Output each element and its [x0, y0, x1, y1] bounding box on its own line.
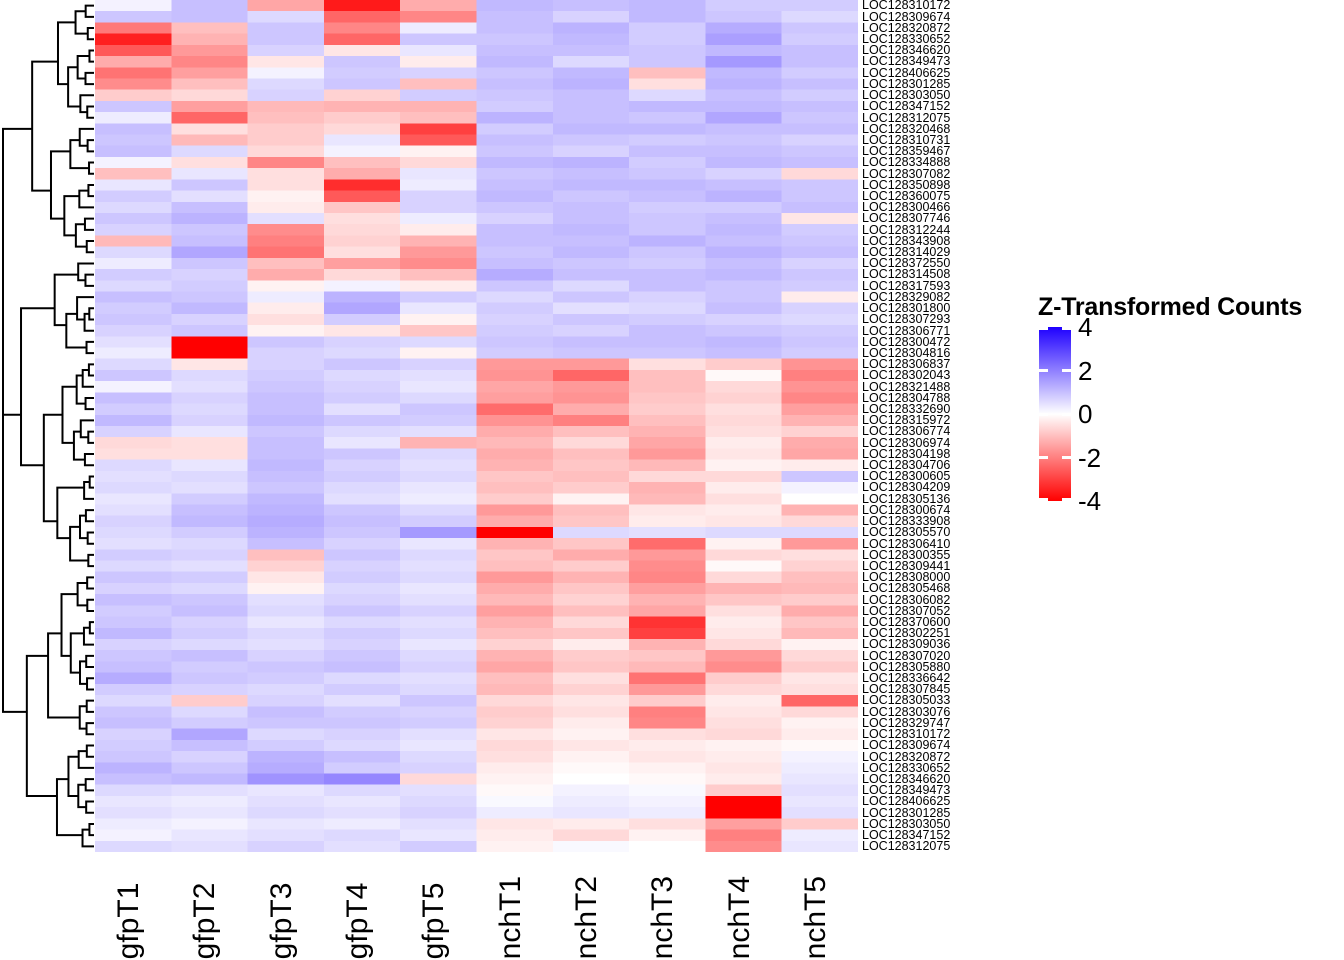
column-label-unchT4: unchT4	[705, 852, 781, 960]
row-label-axis: LOC128310172LOC128309674LOC128320872LOC1…	[862, 0, 1037, 860]
colorbar-tick	[1039, 456, 1048, 459]
column-label-text: ggfpT2	[190, 883, 220, 960]
row-dendrogram	[0, 0, 95, 852]
column-label-text: ggfpT5	[419, 883, 449, 960]
column-label-ggfpT4: ggfpT4	[324, 852, 400, 960]
column-label-unchT2: unchT2	[553, 852, 629, 960]
column-label-text: unchT1	[496, 876, 526, 960]
column-label-text: unchT5	[801, 876, 831, 960]
column-label-ggfpT5: ggfpT5	[400, 852, 476, 960]
colorbar-tick-label: -4	[1078, 488, 1101, 514]
row-label: LOC128312075	[862, 840, 950, 853]
colorbar-tick-label: -2	[1078, 445, 1101, 471]
heatmap-figure: LOC128310172LOC128309674LOC128320872LOC1…	[0, 0, 1344, 960]
colorbar-tick	[1062, 369, 1071, 372]
colorbar-tick	[1062, 413, 1071, 416]
column-label-text: unchT2	[572, 876, 602, 960]
colorbar-tick-label: 2	[1078, 358, 1092, 384]
heatmap-matrix[interactable]	[95, 0, 858, 852]
column-label-text: ggfpT4	[343, 883, 373, 960]
colorbar-tick	[1039, 413, 1048, 416]
column-label-text: unchT3	[648, 876, 678, 960]
colorbar-tick	[1039, 369, 1048, 372]
column-label-text: unchT4	[725, 876, 755, 960]
colorbar-tick	[1062, 327, 1071, 330]
column-label-unchT5: unchT5	[782, 852, 858, 960]
colorbar-tick	[1039, 327, 1048, 330]
heatmap-canvas[interactable]	[95, 0, 858, 852]
colorbar-tick	[1062, 456, 1071, 459]
colorbar-tick	[1039, 498, 1048, 501]
column-label-ggfpT2: ggfpT2	[171, 852, 247, 960]
column-label-text: ggfpT1	[114, 883, 144, 960]
column-label-unchT3: unchT3	[629, 852, 705, 960]
colorbar-tick-label: 0	[1078, 401, 1092, 427]
colorbar-tick-label: 4	[1078, 314, 1092, 340]
column-label-text: ggfpT3	[267, 883, 297, 960]
colorbar-tick	[1062, 498, 1071, 501]
column-label-axis: ggfpT1ggfpT2ggfpT3ggfpT4ggfpT5unchT1unch…	[95, 852, 858, 960]
column-label-ggfpT3: ggfpT3	[248, 852, 324, 960]
dendrogram-branches	[3, 6, 94, 847]
colorbar-ticks	[1039, 327, 1071, 501]
color-legend: Z-Transformed Counts 420-2-4	[1030, 294, 1340, 514]
colorbar-gradient	[1039, 327, 1071, 501]
column-label-unchT1: unchT1	[477, 852, 553, 960]
column-label-ggfpT1: ggfpT1	[95, 852, 171, 960]
dendrogram-svg	[0, 0, 95, 852]
